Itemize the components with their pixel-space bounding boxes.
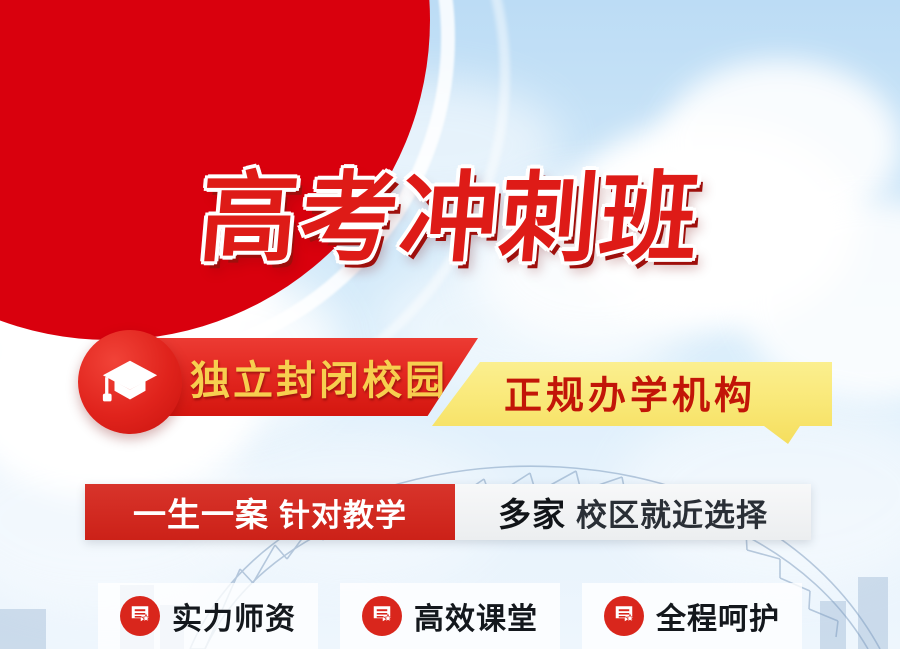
badge-independent-campus-label: 独立封闭校园: [190, 348, 448, 406]
badge-licensed-institution-label: 正规办学机构: [504, 365, 756, 420]
split-bar: 一生一案 针对教学 多家 校区就近选择: [85, 484, 811, 540]
feature-item-teachers[interactable]: 实力师资: [98, 583, 318, 649]
graduation-cap-badge: [78, 330, 182, 434]
split-bar-right[interactable]: 多家 校区就近选择: [455, 484, 811, 540]
badge-licensed-institution[interactable]: 正规办学机构: [432, 362, 832, 444]
graduation-cap-icon: [99, 351, 161, 413]
split-left-strong-text: 一生一案: [133, 488, 269, 536]
split-bar-left[interactable]: 一生一案 针对教学: [85, 484, 455, 540]
title-container: 高考冲刺班: [0, 168, 900, 271]
certificate-icon: [362, 596, 402, 636]
certificate-icon: [604, 596, 644, 636]
feature-item-classroom-label: 高效课堂: [414, 594, 538, 638]
feature-row: 实力师资 高效课堂: [0, 583, 900, 649]
feature-item-care[interactable]: 全程呵护: [582, 583, 802, 649]
feature-item-care-label: 全程呵护: [656, 594, 780, 638]
poster-banner: 高考冲刺班 独立封闭校园 正规办学机构 一生一案 针对教学 多家 校区就近选择: [0, 0, 900, 649]
split-left-normal-text: 针对教学: [279, 490, 407, 535]
certificate-icon: [120, 596, 160, 636]
badge-row: 独立封闭校园 正规办学机构: [0, 318, 900, 448]
page-title: 高考冲刺班: [195, 168, 704, 271]
split-right-strong-text: 多家: [498, 488, 566, 536]
feature-item-classroom[interactable]: 高效课堂: [340, 583, 560, 649]
split-right-normal-text: 校区就近选择: [576, 490, 768, 535]
feature-item-teachers-label: 实力师资: [172, 594, 296, 638]
